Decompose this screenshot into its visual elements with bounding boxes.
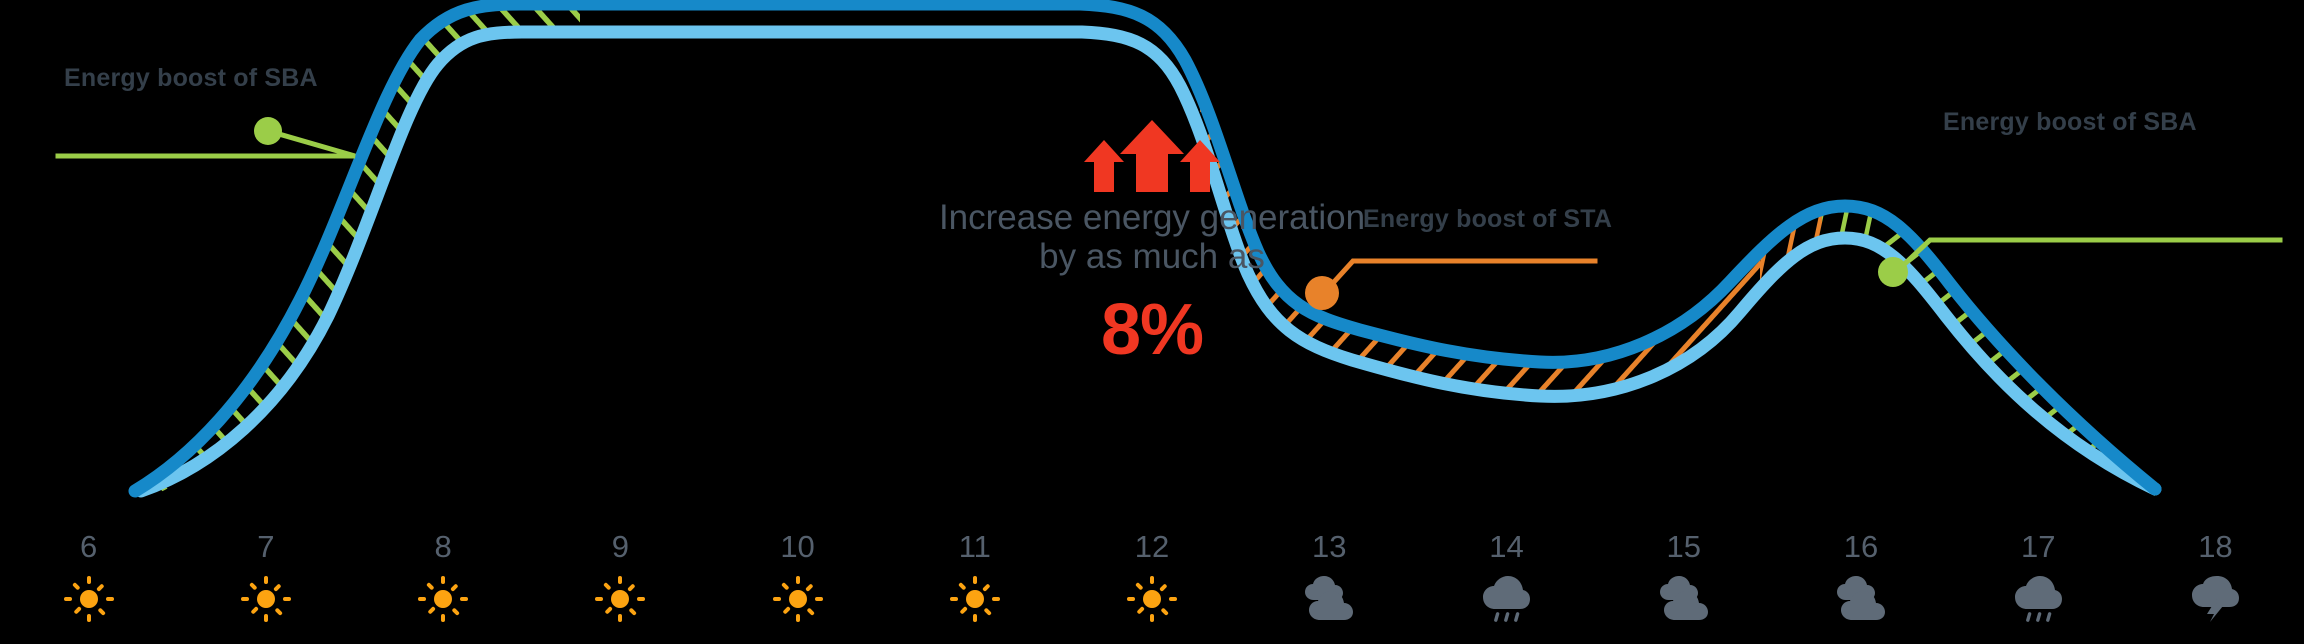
axis-tick-label: 13 — [1312, 530, 1346, 564]
axis-tick-label: 9 — [612, 530, 629, 564]
axis-tick-label: 11 — [959, 530, 991, 564]
axis-tick-label: 18 — [2198, 530, 2232, 564]
marker-dot-sba-right — [1878, 257, 1908, 287]
sun-icon — [63, 576, 115, 622]
axis-tick: 7 — [177, 530, 354, 622]
axis-tick: 18 — [2127, 530, 2304, 622]
annotation-label-sba-right: Energy boost of SBA — [1943, 108, 2197, 137]
axis-tick: 15 — [1595, 530, 1772, 622]
axis-tick: 12 — [1063, 530, 1240, 622]
sun-icon — [417, 576, 469, 622]
annotation-label-sta: Energy boost of STA — [1363, 205, 1612, 234]
leader-line-sta — [1324, 261, 1595, 293]
axis-tick: 9 — [532, 530, 709, 622]
baseline-curve — [141, 32, 2155, 491]
x-axis: 6789101112131415161718 — [0, 530, 2304, 644]
axis-tick-label: 6 — [80, 530, 97, 564]
leader-line-sba-right — [1896, 240, 2280, 272]
sun-icon — [772, 576, 824, 622]
chart-canvas: Energy boost of SBA Energy boost of STA … — [0, 0, 2304, 644]
axis-tick: 14 — [1418, 530, 1595, 622]
marker-dot-sta — [1305, 276, 1339, 310]
cloudy-icon — [1303, 576, 1355, 622]
axis-tick: 13 — [1241, 530, 1418, 622]
axis-tick: 6 — [0, 530, 177, 622]
axis-tick: 17 — [1950, 530, 2127, 622]
boosted-curve — [135, 4, 2155, 491]
sun-icon — [1126, 576, 1178, 622]
axis-tick-label: 16 — [1844, 530, 1878, 564]
axis-tick-label: 7 — [257, 530, 274, 564]
sun-icon — [240, 576, 292, 622]
axis-tick: 8 — [354, 530, 531, 622]
rain-icon — [1480, 576, 1532, 622]
axis-tick: 10 — [709, 530, 886, 622]
annotation-label-sba-left: Energy boost of SBA — [64, 64, 318, 93]
axis-tick-label: 14 — [1489, 530, 1523, 564]
leader-line-sba-left — [58, 132, 355, 156]
axis-tick-label: 10 — [780, 530, 814, 564]
marker-dot-sba-left — [254, 117, 282, 145]
sun-icon — [949, 576, 1001, 622]
cloudy-icon — [1658, 576, 1710, 622]
rain-icon — [2012, 576, 2064, 622]
axis-tick-label: 12 — [1135, 530, 1169, 564]
axis-tick-label: 17 — [2021, 530, 2055, 564]
axis-tick-label: 15 — [1666, 530, 1700, 564]
axis-tick: 11 — [886, 530, 1063, 622]
thunderstorm-icon — [2189, 576, 2241, 622]
cloudy-icon — [1835, 576, 1887, 622]
axis-tick: 16 — [1772, 530, 1949, 622]
axis-tick-label: 8 — [434, 530, 451, 564]
sun-icon — [594, 576, 646, 622]
